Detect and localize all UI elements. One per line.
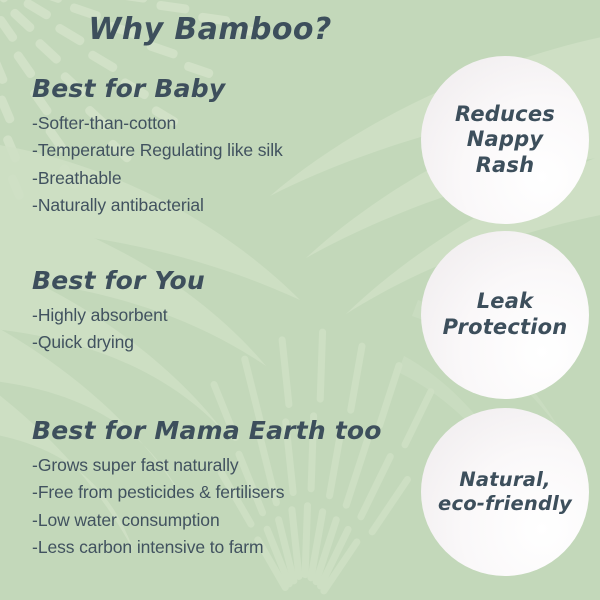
section-best-for-you: Best for You -Highly absorbent -Quick dr… <box>32 268 412 357</box>
list-item-label: Low water consumption <box>38 510 220 530</box>
list-item-label: Temperature Regulating like silk <box>38 140 283 160</box>
benefit-badge-leak-protection: Leak Protection <box>421 231 589 399</box>
list-item-label: Less carbon intensive to farm <box>38 537 264 557</box>
list-item-label: Free from pesticides & fertilisers <box>38 482 285 502</box>
list-item-label: Breathable <box>38 168 122 188</box>
benefit-badge-natural-eco-friendly: Natural, eco-friendly <box>421 408 589 576</box>
bullet-list-earth: -Grows super fast naturally -Free from p… <box>32 452 412 561</box>
list-item: -Breathable <box>32 165 412 192</box>
list-item: -Highly absorbent <box>32 302 412 329</box>
infographic-canvas: Why Bamboo? Best for Baby -Softer-than-c… <box>0 0 600 600</box>
benefit-badge-label: Natural, eco-friendly <box>430 468 580 516</box>
section-heading-earth: Best for Mama Earth too <box>32 418 412 444</box>
list-item: -Temperature Regulating like silk <box>32 137 412 164</box>
list-item: -Quick drying <box>32 329 412 356</box>
benefit-badge-label: Reduces Nappy Rash <box>447 102 563 179</box>
list-item: -Free from pesticides & fertilisers <box>32 479 412 506</box>
section-best-for-mama-earth: Best for Mama Earth too -Grows super fas… <box>32 418 412 561</box>
section-heading-you: Best for You <box>32 268 412 294</box>
list-item-label: Softer-than-cotton <box>38 113 176 133</box>
content-column: Why Bamboo? Best for Baby -Softer-than-c… <box>0 0 420 600</box>
list-item: -Less carbon intensive to farm <box>32 534 412 561</box>
section-best-for-baby: Best for Baby -Softer-than-cotton -Tempe… <box>32 76 412 219</box>
list-item-label: Grows super fast naturally <box>38 455 239 475</box>
list-item-label: Highly absorbent <box>38 305 168 325</box>
benefit-badge-reduces-nappy-rash: Reduces Nappy Rash <box>421 56 589 224</box>
list-item: -Grows super fast naturally <box>32 452 412 479</box>
bullet-list-baby: -Softer-than-cotton -Temperature Regulat… <box>32 110 412 219</box>
page-title: Why Bamboo? <box>0 12 420 47</box>
list-item-label: Quick drying <box>38 332 134 352</box>
list-item-label: Naturally antibacterial <box>38 195 204 215</box>
benefit-badge-label: Leak Protection <box>435 289 576 340</box>
bullet-list-you: -Highly absorbent -Quick drying <box>32 302 412 356</box>
list-item: -Naturally antibacterial <box>32 192 412 219</box>
section-heading-baby: Best for Baby <box>32 76 412 102</box>
list-item: -Low water consumption <box>32 507 412 534</box>
list-item: -Softer-than-cotton <box>32 110 412 137</box>
